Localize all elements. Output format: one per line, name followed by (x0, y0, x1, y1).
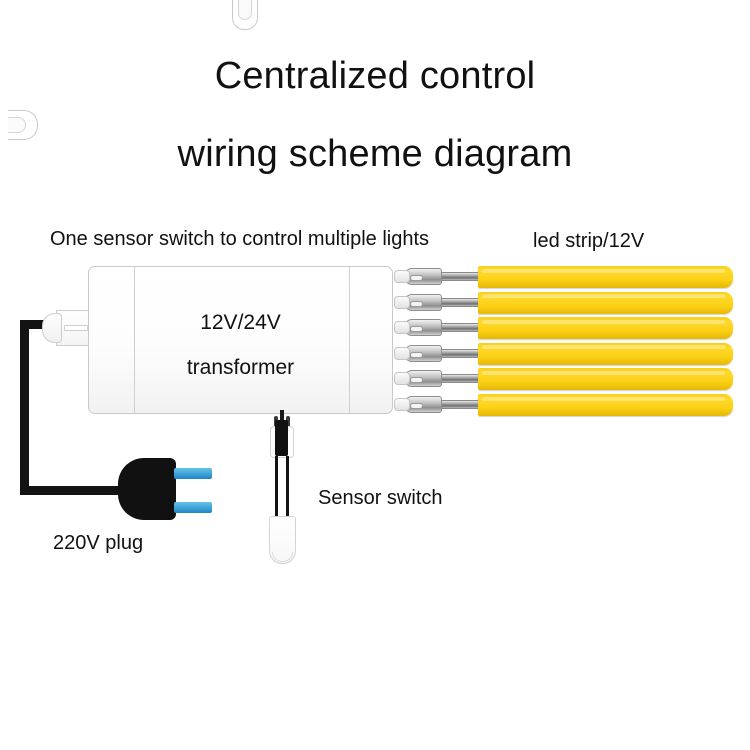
transformer-output-port (394, 347, 410, 360)
dc-input-nose (42, 313, 62, 343)
transformer-voltage-label: 12V/24V (88, 311, 393, 335)
label-led-strip: led strip/12V (533, 230, 644, 253)
led-strip-highlight (482, 345, 725, 349)
transformer-seam-right (349, 267, 350, 413)
page-title-line-1: Centralized control (0, 55, 750, 98)
power-plug-pin-top (174, 468, 212, 479)
led-strip-connector-hole (410, 326, 423, 332)
led-strip (478, 266, 733, 288)
transformer-seam-left (134, 267, 135, 413)
transformer-output-port (394, 398, 410, 411)
label-sensor-switch: Sensor switch (318, 487, 443, 510)
wiring-diagram-canvas: Centralized control wiring scheme diagra… (0, 0, 750, 750)
page-title-line-2: wiring scheme diagram (0, 133, 750, 176)
sensor-connector-block (275, 420, 288, 456)
transformer-output-port (394, 270, 410, 283)
power-plug-face (160, 462, 174, 516)
transformer-output-port (394, 321, 410, 334)
led-strip-connector-hole (410, 301, 423, 307)
transformer-unit: 12V/24V transformer (88, 266, 393, 414)
led-strip-highlight (482, 371, 725, 375)
transformer-mounting-tab-bottom-hole (8, 117, 26, 133)
led-strip (478, 394, 733, 416)
led-strip-connector-hole (410, 275, 423, 281)
led-strip-connector-hole (410, 377, 423, 383)
led-strip-connector-hole (410, 352, 423, 358)
led-strip (478, 368, 733, 390)
led-strip (478, 343, 733, 365)
led-strip-highlight (482, 397, 725, 401)
transformer-output-port (394, 296, 410, 309)
led-strip-highlight (482, 320, 725, 324)
power-plug-pin-bottom (174, 502, 212, 513)
dc-input-connector (42, 310, 94, 346)
led-strip-highlight (482, 269, 725, 273)
led-strip (478, 317, 733, 339)
led-strip-connector-hole (410, 403, 423, 409)
transformer-output-port (394, 372, 410, 385)
sensor-switch-unit (262, 416, 302, 564)
led-strip (478, 292, 733, 314)
label-220v-plug: 220V plug (53, 532, 143, 555)
label-one-sensor-switch: One sensor switch to control multiple li… (50, 228, 429, 251)
mains-cable-segment-vertical (20, 320, 29, 495)
transformer-name-label: transformer (88, 356, 393, 380)
transformer-mounting-tab-top-hole (238, 0, 252, 20)
dc-input-slot (64, 325, 88, 331)
led-strip-highlight (482, 294, 725, 298)
